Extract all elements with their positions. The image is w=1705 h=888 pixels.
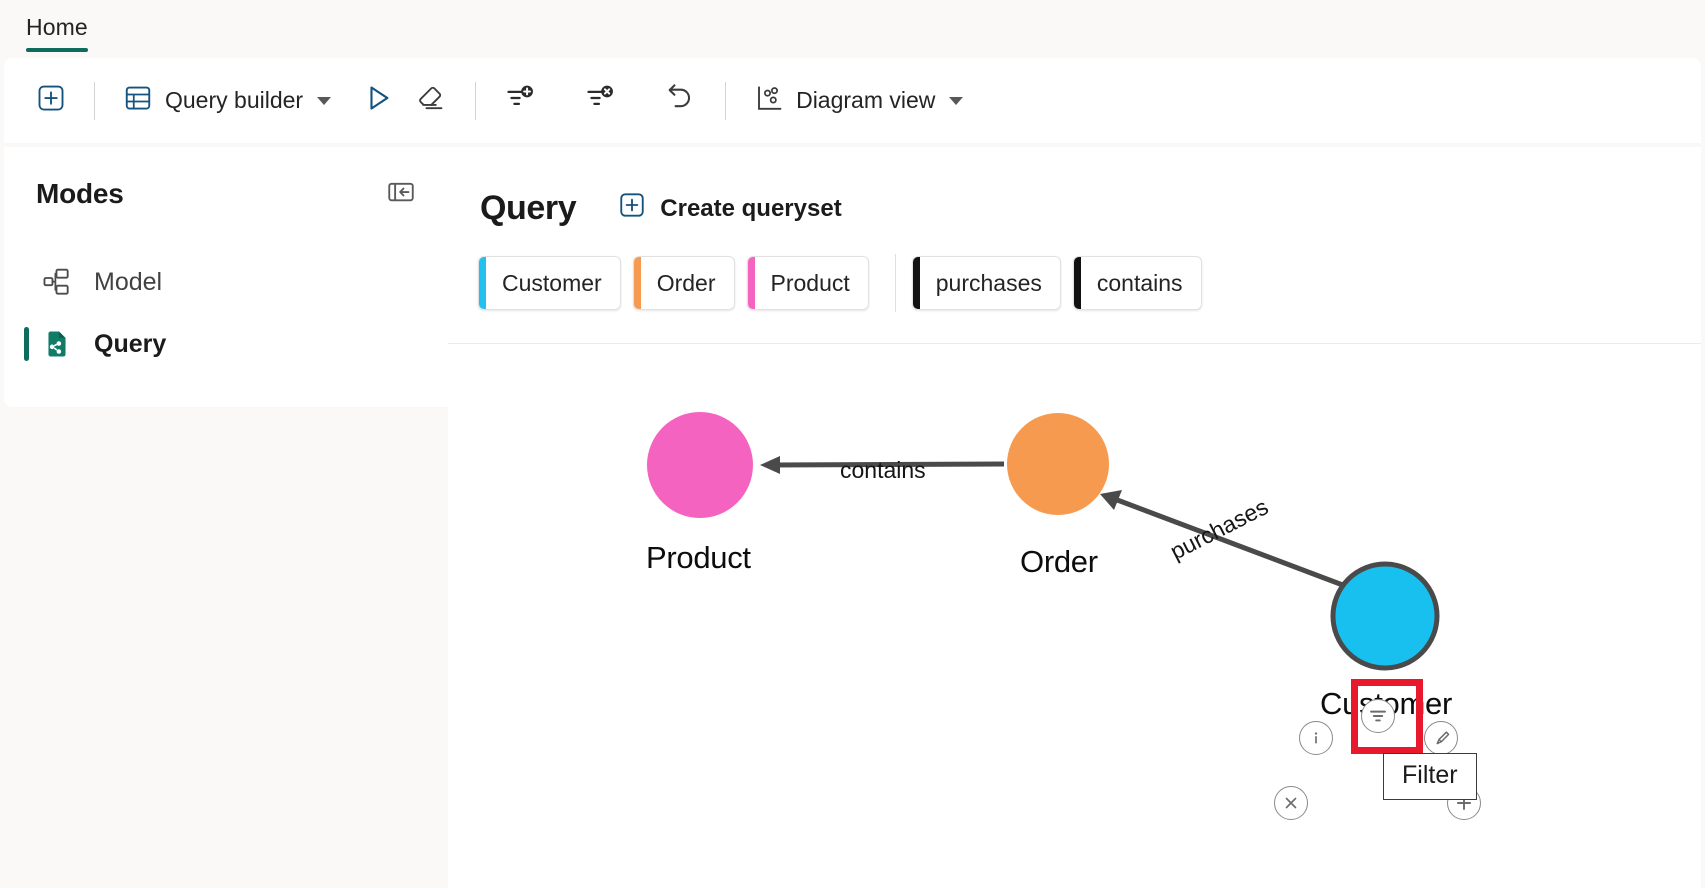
diagram-view-label: Diagram view <box>796 87 935 114</box>
chip-customer[interactable]: Customer <box>478 256 621 310</box>
tab-active-indicator <box>26 48 88 52</box>
remove-filter-button[interactable] <box>574 77 626 125</box>
main-header: Query Create queryset <box>448 147 1701 232</box>
undo-icon <box>664 81 697 120</box>
sidebar-item-query[interactable]: Query <box>4 313 448 375</box>
filter-dismiss-icon <box>584 82 616 120</box>
chip-label: Order <box>657 270 716 297</box>
filter-icon[interactable] <box>1361 699 1395 733</box>
chip-color-swatch <box>748 257 755 309</box>
node-label-product: Product <box>646 540 751 576</box>
toolbar-separator-2 <box>475 82 476 120</box>
edge-label-contains: contains <box>840 457 926 484</box>
diagram-view-button[interactable]: Diagram view <box>744 77 973 125</box>
ribbon-tab-strip: Home <box>0 0 1705 58</box>
sidebar-item-model[interactable]: Model <box>4 251 448 313</box>
plus-box-icon <box>618 191 646 226</box>
plus-box-icon <box>36 83 66 119</box>
eraser-icon <box>415 82 447 120</box>
toolbar: Query builder <box>4 58 1701 143</box>
main-panel: Query Create queryset Customer Order <box>448 147 1701 888</box>
chip-order[interactable]: Order <box>633 256 735 310</box>
diagram-svg <box>448 344 1701 888</box>
chip-purchases[interactable]: purchases <box>912 256 1061 310</box>
chevron-down-icon[interactable] <box>317 97 331 105</box>
create-queryset-button[interactable]: Create queryset <box>610 185 849 232</box>
page-title: Query <box>480 189 576 228</box>
scatter-plot-icon <box>754 83 784 119</box>
run-play-icon <box>361 81 395 121</box>
sidebar-header: Modes <box>4 177 448 211</box>
create-queryset-label: Create queryset <box>660 195 841 223</box>
node-product[interactable] <box>647 412 753 518</box>
tab-home-label: Home <box>26 14 88 40</box>
chip-label: contains <box>1097 270 1183 297</box>
toolbar-separator-3 <box>725 82 726 120</box>
model-schema-icon <box>40 265 74 299</box>
filter-add-icon <box>504 82 536 120</box>
modes-sidebar: Modes Model <box>4 147 448 407</box>
run-button[interactable] <box>351 77 405 125</box>
diagram-canvas[interactable]: Product Order Customer contains purchase… <box>448 344 1701 888</box>
dismiss-circle-icon[interactable] <box>1274 786 1308 820</box>
info-icon[interactable] <box>1299 721 1333 755</box>
chip-color-swatch <box>913 257 920 309</box>
clear-button[interactable] <box>405 77 457 125</box>
chip-product[interactable]: Product <box>747 256 869 310</box>
chips-group-divider <box>895 254 896 312</box>
app-body: Modes Model <box>0 143 1705 888</box>
add-filter-button[interactable] <box>494 77 546 125</box>
brush-edit-icon[interactable] <box>1424 721 1458 755</box>
tooltip-filter: Filter <box>1383 753 1477 800</box>
chip-label: Product <box>771 270 850 297</box>
selected-items-chips: Customer Order Product purchases contain… <box>448 232 1701 312</box>
tab-home[interactable]: Home <box>16 12 98 41</box>
sidebar-item-query-label: Query <box>94 330 166 359</box>
table-icon <box>123 83 153 119</box>
panel-collapse-left-icon <box>386 177 416 212</box>
chevron-down-icon[interactable] <box>949 97 963 105</box>
chip-label: Customer <box>502 270 602 297</box>
node-label-order: Order <box>1020 544 1098 580</box>
query-builder-label: Query builder <box>165 87 303 114</box>
sidebar-item-model-label: Model <box>94 268 162 297</box>
sidebar-title: Modes <box>36 178 124 210</box>
chip-label: purchases <box>936 270 1042 297</box>
chip-color-swatch <box>1074 257 1081 309</box>
chip-color-swatch <box>479 257 486 309</box>
toolbar-separator-1 <box>94 82 95 120</box>
collapse-panel-button[interactable] <box>384 177 418 211</box>
query-builder-button[interactable]: Query builder <box>113 77 341 125</box>
chip-contains[interactable]: contains <box>1073 256 1202 310</box>
new-button[interactable] <box>26 77 76 125</box>
selection-indicator <box>24 327 29 361</box>
node-customer[interactable] <box>1333 564 1437 668</box>
query-document-icon <box>40 327 74 361</box>
chip-color-swatch <box>634 257 641 309</box>
undo-button[interactable] <box>654 77 707 125</box>
node-order[interactable] <box>1007 413 1109 515</box>
